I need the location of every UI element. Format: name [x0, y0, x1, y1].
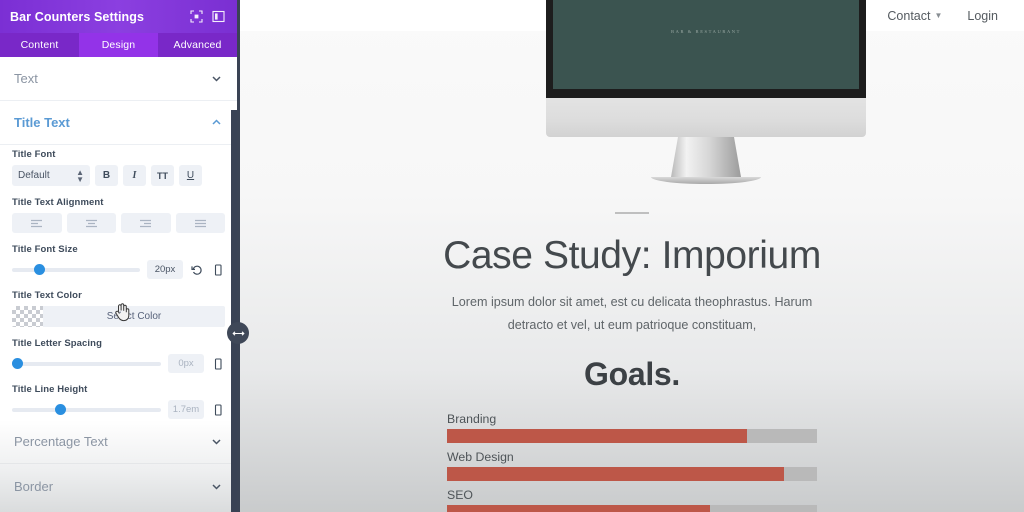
title-line-height-slider[interactable]	[12, 401, 161, 419]
section-text[interactable]: Text	[0, 57, 237, 101]
mobile-icon[interactable]	[211, 262, 225, 278]
bar-counter-track	[447, 505, 817, 512]
monitor-bezel: BAR & RESTAURANT	[546, 0, 866, 98]
bar-counter-item[interactable]: Web Design	[447, 450, 817, 481]
monitor-stand-base	[651, 177, 761, 184]
mobile-icon[interactable]	[211, 356, 225, 372]
align-right-button[interactable]	[121, 213, 171, 233]
chevron-up-icon	[210, 116, 223, 129]
section-percentage-text[interactable]: Percentage Text	[0, 420, 237, 464]
panel-divider	[237, 0, 240, 512]
bar-counter-track	[447, 429, 817, 443]
title-font-select[interactable]: Default ▲▼	[12, 165, 90, 186]
chevron-down-icon	[210, 435, 223, 448]
tab-content[interactable]: Content	[0, 33, 79, 57]
nav-item-login[interactable]: Login	[967, 9, 998, 23]
section-title-text-label: Title Text	[14, 115, 210, 130]
panel-title: Bar Counters Settings	[10, 10, 183, 24]
color-swatch[interactable]	[12, 306, 43, 327]
bar-counter-item[interactable]: SEO	[447, 488, 817, 512]
section-divider	[615, 212, 649, 214]
bar-counter-item[interactable]: Branding	[447, 412, 817, 443]
title-letter-spacing-value[interactable]: 0px	[168, 354, 204, 373]
expand-icon[interactable]	[187, 8, 205, 26]
undo-icon[interactable]	[190, 262, 204, 278]
title-font-value: Default	[18, 170, 76, 181]
chevron-down-icon	[210, 72, 223, 85]
page-title: Case Study: Imporium	[240, 234, 1024, 278]
field-title-font-size: Title Font Size 20px	[12, 244, 225, 279]
chevron-down-icon: ▼	[934, 11, 942, 20]
panel-header: Bar Counters Settings	[0, 0, 237, 33]
uppercase-button[interactable]: TT	[151, 165, 174, 186]
slider-knob[interactable]	[55, 404, 66, 415]
goals-title: Goals.	[240, 356, 1024, 393]
italic-button[interactable]: I	[123, 165, 146, 186]
align-left-button[interactable]	[12, 213, 62, 233]
layout-icon[interactable]	[209, 8, 227, 26]
title-line-height-value[interactable]: 1.7em	[168, 400, 204, 419]
select-color-button[interactable]: Select Color	[43, 306, 225, 327]
mobile-icon[interactable]	[211, 402, 225, 418]
chevron-down-icon	[210, 480, 223, 493]
underline-button[interactable]: U	[179, 165, 202, 186]
nav-label: Login	[967, 9, 998, 23]
panel-tabs: Content Design Advanced	[0, 33, 237, 57]
panel-resize-handle[interactable]	[227, 322, 249, 344]
title-font-size-slider[interactable]	[12, 261, 140, 279]
bar-counters: Branding Web Design SEO	[447, 412, 817, 512]
field-title-line-height: Title Line Height 1.7em	[12, 384, 225, 419]
title-letter-spacing-slider[interactable]	[12, 355, 161, 373]
section-border-label: Border	[14, 479, 210, 494]
field-title-text-alignment: Title Text Alignment	[12, 197, 225, 233]
title-text-color-label: Title Text Color	[12, 290, 225, 301]
section-border[interactable]: Border	[0, 464, 237, 508]
align-justify-button[interactable]	[176, 213, 226, 233]
title-letter-spacing-label: Title Letter Spacing	[12, 338, 225, 349]
nav-item-contact[interactable]: Contact ▼	[887, 9, 942, 23]
monitor-stand-neck	[671, 137, 741, 177]
tab-design[interactable]: Design	[79, 33, 158, 57]
bold-button[interactable]: B	[95, 165, 118, 186]
monitor-screen: BAR & RESTAURANT	[553, 0, 859, 89]
monitor-screen-text: BAR & RESTAURANT	[671, 29, 741, 89]
nav-label: Contact	[887, 9, 930, 23]
slider-track	[12, 362, 161, 366]
bar-counter-fill	[447, 429, 747, 443]
bar-counter-fill	[447, 467, 784, 481]
field-title-letter-spacing: Title Letter Spacing 0px	[12, 338, 225, 373]
section-percentage-text-label: Percentage Text	[14, 434, 210, 449]
bar-counter-label: SEO	[447, 488, 817, 502]
field-title-text-color: Title Text Color Select Color	[12, 290, 225, 327]
panel-body: Text Title Text Title Font Default ▲▼	[0, 57, 237, 512]
title-text-fields: Title Font Default ▲▼ B I TT U Title Tex…	[0, 145, 237, 419]
monitor-chin	[546, 98, 866, 137]
title-line-height-label: Title Line Height	[12, 384, 225, 395]
slider-track	[12, 268, 140, 272]
title-alignment-label: Title Text Alignment	[12, 197, 225, 208]
title-font-size-label: Title Font Size	[12, 244, 225, 255]
section-text-label: Text	[14, 71, 210, 86]
bar-counter-fill	[447, 505, 710, 512]
tab-advanced[interactable]: Advanced	[158, 33, 237, 57]
slider-knob[interactable]	[12, 358, 23, 369]
align-center-button[interactable]	[67, 213, 117, 233]
field-title-font: Title Font Default ▲▼ B I TT U	[12, 149, 225, 186]
settings-panel: Bar Counters Settings Content Design Adv…	[0, 0, 237, 512]
bar-counter-track	[447, 467, 817, 481]
collapsed-sections: Percentage Text Border	[0, 420, 237, 512]
preview-pane: About ▼ Services ▼ Our Team Contact ▼ Lo…	[240, 0, 1024, 512]
monitor-mockup: BAR & RESTAURANT	[546, 0, 866, 184]
bar-counter-label: Branding	[447, 412, 817, 426]
title-font-label: Title Font	[12, 149, 225, 160]
slider-knob[interactable]	[34, 264, 45, 275]
intro-paragraph: Lorem ipsum dolor sit amet, est cu delic…	[432, 291, 832, 338]
section-title-text[interactable]: Title Text	[0, 101, 237, 145]
updown-icon: ▲▼	[76, 169, 84, 183]
title-font-size-value[interactable]: 20px	[147, 260, 183, 279]
slider-track	[12, 408, 161, 412]
bar-counter-label: Web Design	[447, 450, 817, 464]
